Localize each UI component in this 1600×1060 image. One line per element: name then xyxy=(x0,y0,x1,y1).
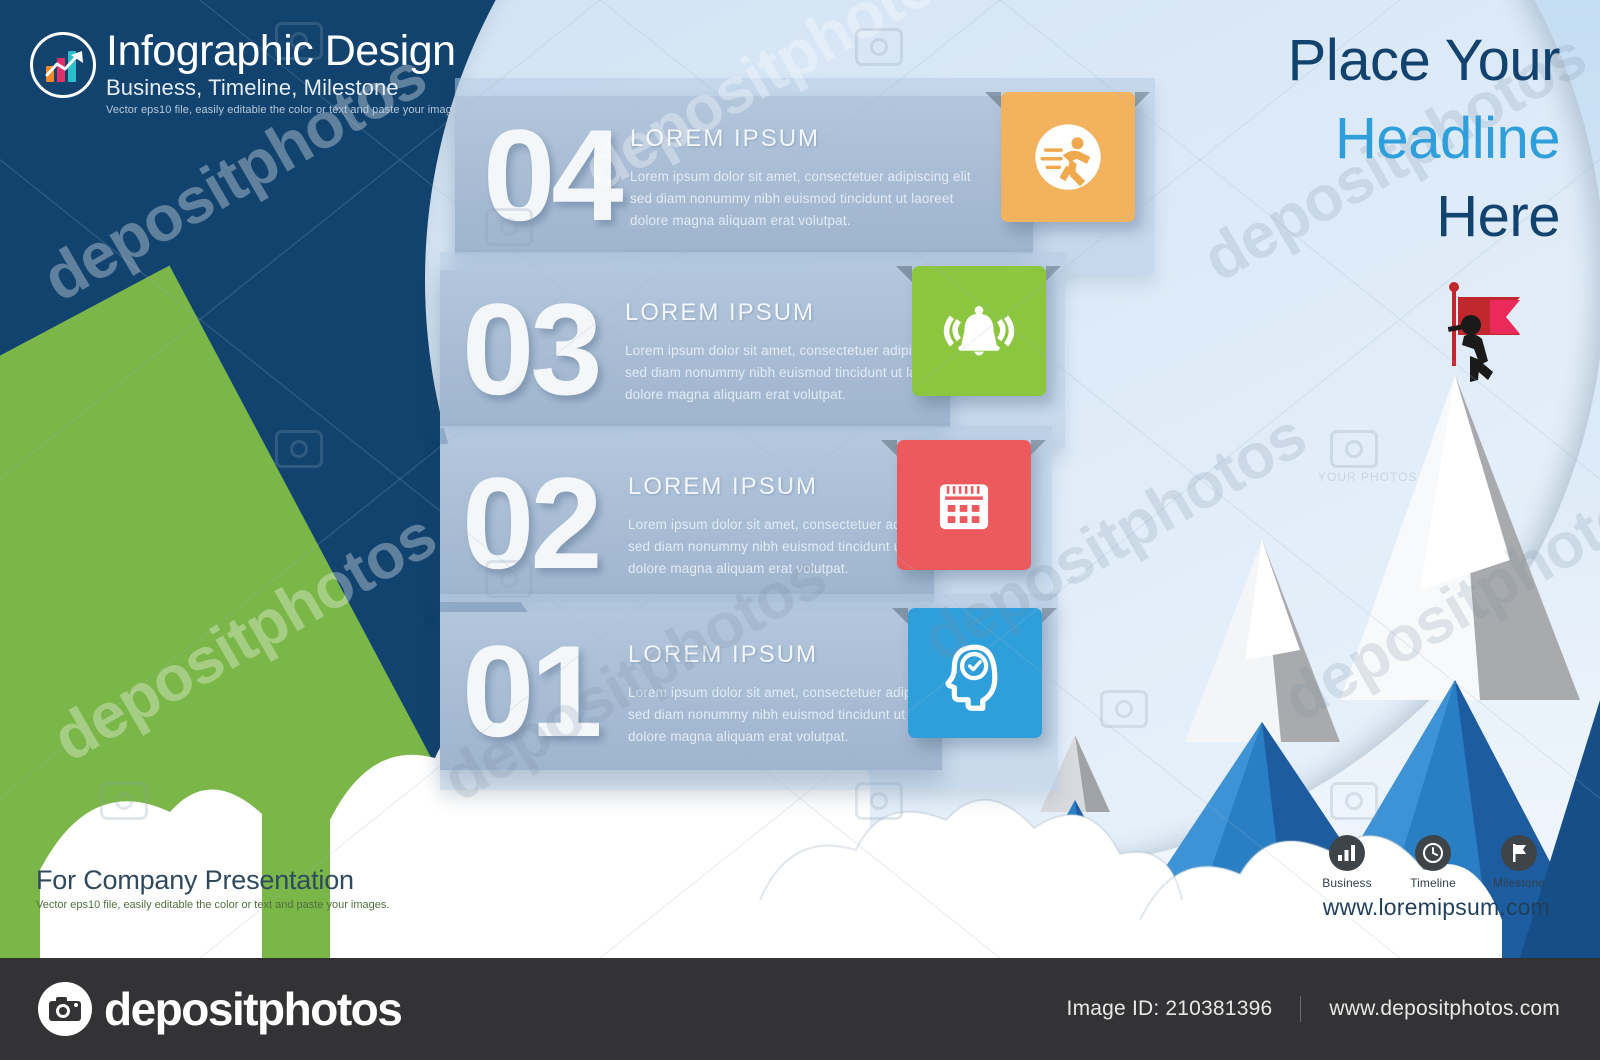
headline-line-2: Headline xyxy=(1160,100,1560,178)
clock-icon xyxy=(1415,835,1451,871)
step-icon-card[interactable] xyxy=(897,440,1031,570)
image-id-label: Image ID: 210381396 xyxy=(1067,997,1273,1021)
step-description: Lorem ipsum dolor sit amet, consectetuer… xyxy=(630,166,980,232)
step-icon-card[interactable] xyxy=(1001,92,1135,222)
step-title: LOREM IPSUM xyxy=(630,124,990,154)
depositphotos-site-url[interactable]: www.depositphotos.com xyxy=(1329,997,1560,1021)
legend-item-timeline[interactable]: Timeline xyxy=(1402,835,1464,890)
company-presentation-label: For Company Presentation Vector eps10 fi… xyxy=(36,865,389,912)
head-clock-icon xyxy=(932,630,1018,716)
screenshot-root: depositphotos depositphotos depositphoto… xyxy=(0,0,1600,1060)
company-title: For Company Presentation xyxy=(36,865,389,896)
headline-line-3: Here xyxy=(1160,178,1560,256)
step-icon-card[interactable] xyxy=(912,266,1046,396)
headline-line-1: Place Your xyxy=(1160,22,1560,100)
running-man-icon xyxy=(1025,114,1111,200)
step-row[interactable]: 04 LOREM IPSUM Lorem ipsum dolor sit ame… xyxy=(455,96,1155,254)
flag-icon xyxy=(1501,835,1537,871)
step-row[interactable]: 03 LOREM IPSUM Lorem ipsum dolor sit ame… xyxy=(440,270,1065,428)
legend-item-milestone[interactable]: Milestone xyxy=(1488,835,1550,890)
company-note: Vector eps10 file, easily editable the c… xyxy=(36,898,389,912)
legend-item-business[interactable]: Business xyxy=(1316,835,1378,890)
headline-block: Place Your Headline Here xyxy=(1160,22,1560,256)
bar-chart-arrow-icon xyxy=(30,32,96,98)
brand-note: Vector eps10 file, easily editable the c… xyxy=(106,103,467,117)
footer-meta: Image ID: 210381396 www.depositphotos.co… xyxy=(1067,996,1560,1022)
calendar-icon xyxy=(921,462,1007,548)
brand-header: Infographic Design Business, Timeline, M… xyxy=(30,28,550,117)
bar-chart-icon xyxy=(1329,835,1365,871)
step-number: 04 xyxy=(483,102,620,248)
step-number: 01 xyxy=(462,618,599,764)
brand-title: Infographic Design xyxy=(106,28,467,74)
logo-arrow-icon xyxy=(45,49,87,79)
infographic-canvas: depositphotos depositphotos depositphoto… xyxy=(0,0,1600,958)
step-number: 03 xyxy=(462,276,599,422)
step-row[interactable]: 02 LOREM IPSUM Lorem ipsum dolor sit ame… xyxy=(440,444,1052,602)
step-icon-card[interactable] xyxy=(908,608,1042,738)
depositphotos-footer-bar: depositphotos Image ID: 210381396 www.de… xyxy=(0,958,1600,1060)
camera-icon xyxy=(38,982,92,1036)
step-row[interactable]: 01 LOREM IPSUM Lorem ipsum dolor sit ame… xyxy=(440,612,1058,770)
depositphotos-wordmark: depositphotos xyxy=(104,984,401,1034)
depositphotos-logo[interactable]: depositphotos xyxy=(38,982,401,1036)
website-url[interactable]: www.loremipsum.com xyxy=(1323,894,1550,920)
footer-divider xyxy=(1300,996,1301,1022)
brand-subtitle: Business, Timeline, Milestone xyxy=(106,75,467,101)
legend-label: Milestone xyxy=(1488,876,1550,890)
legend-label: Timeline xyxy=(1402,876,1464,890)
legend-row: Business Timeline Milest xyxy=(1316,835,1550,890)
alarm-bell-icon xyxy=(936,288,1022,374)
legend-label: Business xyxy=(1316,876,1378,890)
step-number: 02 xyxy=(462,450,599,596)
